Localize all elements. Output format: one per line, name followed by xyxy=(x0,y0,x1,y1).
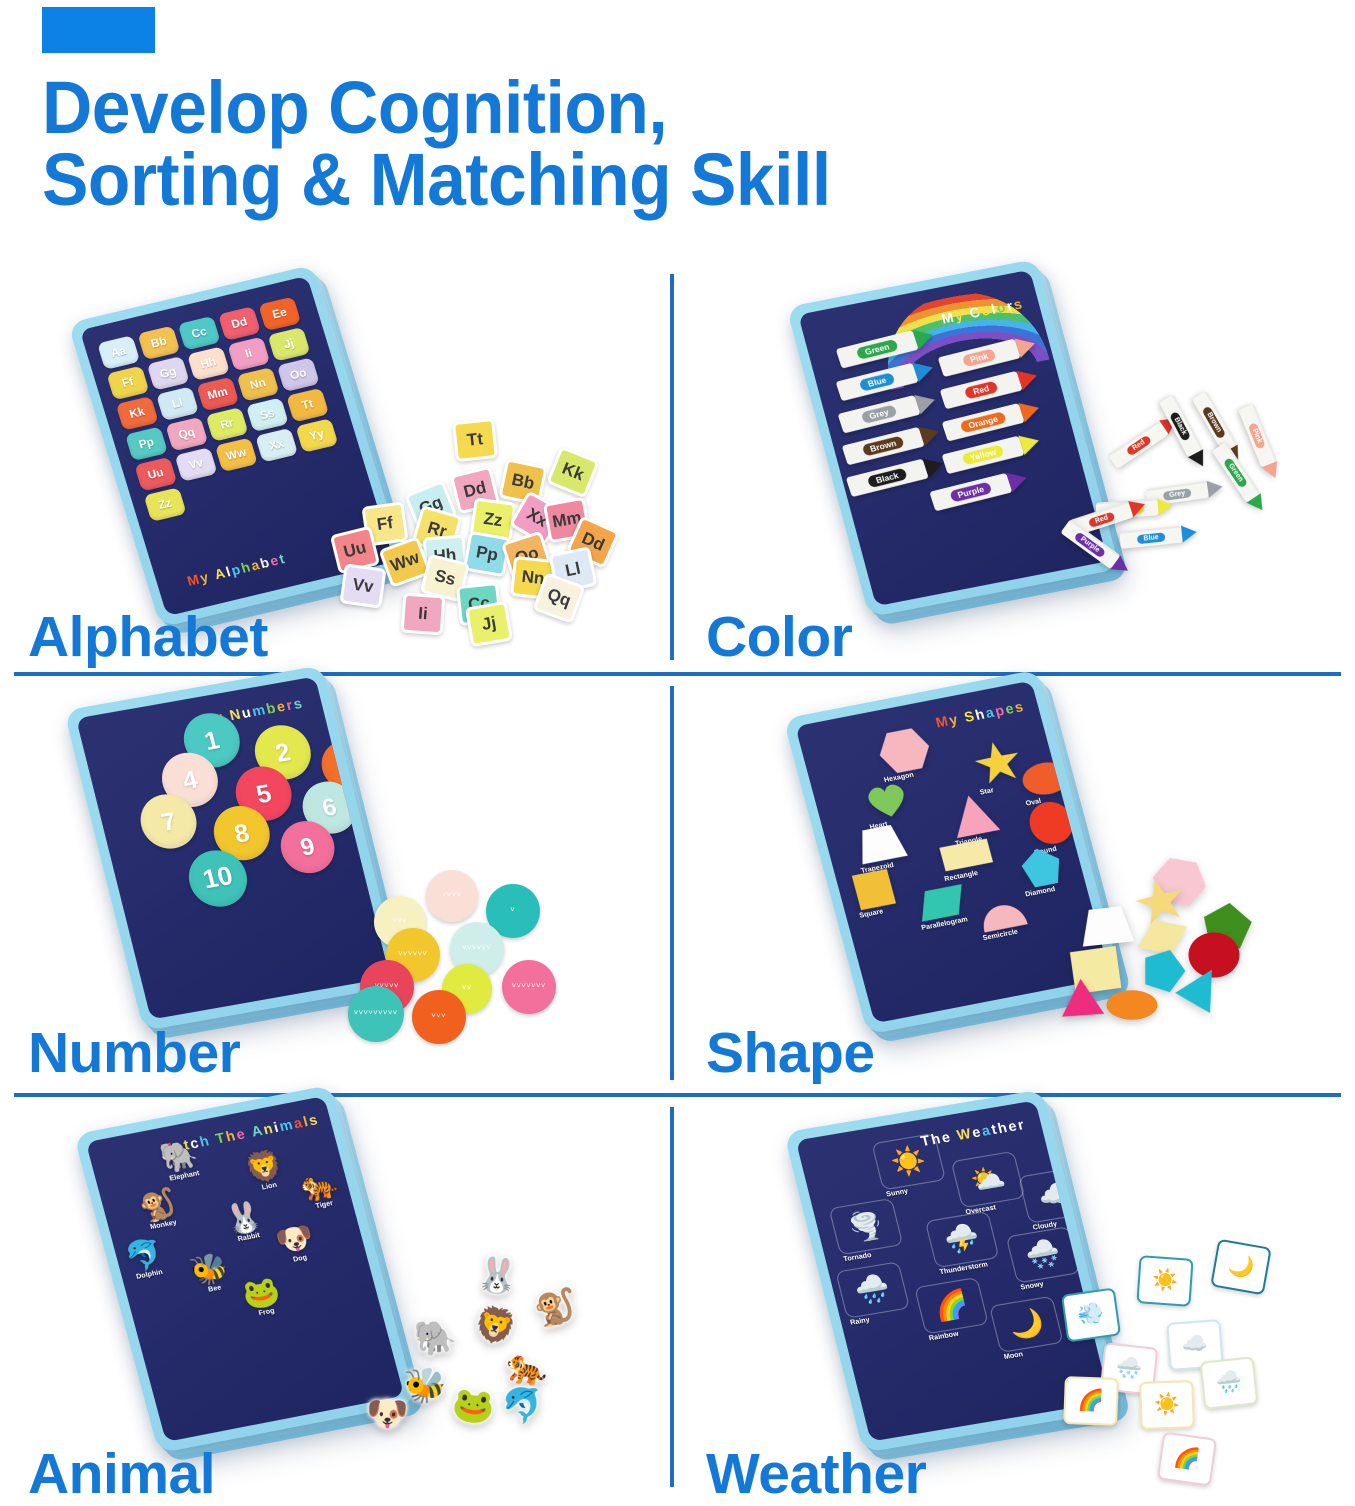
animal-rabbit: 🐰Rabbit xyxy=(222,1200,268,1244)
animal-dolphin: 🐬Dolphin xyxy=(122,1238,168,1282)
animal-frog: 🐸Frog xyxy=(239,1275,285,1319)
alphabet-tile: Oo xyxy=(277,357,320,392)
alphabet-tile: Cc xyxy=(178,316,221,351)
panel-weather: The Weather ☀️Sunny⛅Overcast☁️Cloudy🌪️To… xyxy=(684,1105,1340,1505)
alphabet-tile: Nn xyxy=(236,367,279,402)
alphabet-tile: Ff xyxy=(106,366,149,401)
weather-card-windy: 💨 xyxy=(1061,1287,1121,1342)
alphabet-loose-cards: TtBbKkDdGgZzXxMmRrFfHhPpOoDdUuWwSsNnLlVv… xyxy=(306,418,626,638)
accent-square xyxy=(42,7,155,53)
number-loose-tokens: ⱽⱽⱽⱽⱽⱽⱽⱽⱽⱽⱽⱽⱽⱽⱽⱽⱽⱽⱽⱽⱽⱽⱽⱽⱽⱽⱽⱽⱽⱽⱽⱽⱽⱽⱽⱽⱽⱽⱽⱽ… xyxy=(346,864,596,1054)
page-title: Develop Cognition, Sorting & Matching Sk… xyxy=(42,72,1076,216)
feature-grid: AaBbCcDdEeFfGgHhIiJjKkLlMmNnOoPpQqRrSsTt… xyxy=(0,262,1355,1500)
weather-cell-rainbow: 🌈 xyxy=(914,1277,989,1335)
shape-heart xyxy=(860,776,914,828)
weather-card-rainy: 🌧️ xyxy=(1200,1356,1259,1409)
animal-dog: 🐶Dog xyxy=(273,1222,319,1266)
moon-icon: 🌙 xyxy=(1006,1308,1047,1340)
alphabet-tile: Qq xyxy=(165,417,208,452)
animal-piece-rabbit: 🐰 xyxy=(475,1258,520,1295)
animal-piece-frog: 🐸 xyxy=(450,1387,496,1425)
animal-piece-dolphin: 🐬 xyxy=(499,1386,547,1427)
animal-piece-monkey: 🐒 xyxy=(532,1288,579,1328)
alphabet-loose-card: Ii xyxy=(401,593,446,636)
animal-piece-elephant: 🐘 xyxy=(412,1319,458,1357)
animal-lion: 🦁Lion xyxy=(242,1150,288,1194)
alphabet-tile: Aa xyxy=(97,335,140,370)
alphabet-tile: Hh xyxy=(187,346,230,381)
alphabet-tile: Ll xyxy=(156,386,199,421)
animal-piece-lion: 🦁 xyxy=(471,1304,520,1347)
alphabet-tile: Jj xyxy=(267,327,310,362)
felt-shape-piece xyxy=(1059,977,1106,1023)
weather-card-rainbow: 🌈 xyxy=(1157,1431,1217,1486)
tornado-icon: 🌪️ xyxy=(846,1210,887,1242)
alphabet-tile: Kk xyxy=(116,396,159,431)
weather-cell-moon: 🌙 xyxy=(989,1296,1064,1354)
alphabet-loose-card: Kk xyxy=(546,446,600,499)
weather-cell-rainy: 🌧️ xyxy=(835,1261,910,1319)
tiger-icon: 🐅 xyxy=(297,1168,341,1204)
animal-piece-dog: 🐶 xyxy=(365,1396,409,1431)
alphabet-tile: Uu xyxy=(134,457,177,492)
alphabet-tile: Bb xyxy=(137,325,180,360)
shape-loose-pieces xyxy=(1044,854,1314,1044)
rainy-icon: 🌧️ xyxy=(852,1274,893,1306)
panel-label-color: Color xyxy=(706,609,852,666)
alphabet-tile: Dd xyxy=(218,306,261,341)
alphabet-tile: Ii xyxy=(227,337,270,372)
overcast-icon: ⛅ xyxy=(968,1163,1009,1195)
panel-label-shape: Shape xyxy=(706,1025,875,1082)
elephant-icon: 🐘 xyxy=(157,1139,201,1175)
panel-animal: Match The Animals 🐘Elephant🦁Lion🐒Monkey🐅… xyxy=(6,1105,662,1505)
felt-shape-piece xyxy=(1106,990,1158,1025)
panel-label-number: Number xyxy=(28,1025,240,1082)
monkey-icon: 🐒 xyxy=(136,1188,180,1224)
bee-icon: 🐝 xyxy=(188,1252,232,1288)
divider-vertical-3 xyxy=(670,1107,674,1487)
divider-horizontal-1 xyxy=(14,672,1341,676)
weather-cell-overcast: ⛅ xyxy=(951,1151,1026,1209)
alphabet-tile: Vv xyxy=(175,447,218,482)
header: Develop Cognition, Sorting & Matching Sk… xyxy=(0,0,1355,262)
dog-icon: 🐶 xyxy=(273,1222,317,1258)
counting-token: ⱽⱽⱽⱽⱽⱽⱽ xyxy=(502,960,556,1014)
weather-card-sunny: ☀️ xyxy=(1139,1380,1195,1430)
alphabet-cover-title: My Alphabet xyxy=(185,550,288,589)
lion-icon: 🦁 xyxy=(242,1150,286,1186)
weather-cell-cloudy: ☁️ xyxy=(1018,1166,1093,1224)
shape-star xyxy=(970,737,1028,793)
panel-alphabet: AaBbCcDdEeFfGgHhIiJjKkLlMmNnOoPpQqRrSsTt… xyxy=(6,268,662,668)
weather-label: Rainy xyxy=(849,1316,870,1327)
animal-piece-tiger: 🐅 xyxy=(503,1348,551,1389)
sunny-icon: ☀️ xyxy=(888,1145,929,1177)
dolphin-icon: 🐬 xyxy=(122,1238,166,1274)
alphabet-tile: Mm xyxy=(196,377,239,412)
frog-icon: 🐸 xyxy=(239,1275,283,1311)
counting-token: ⱽⱽⱽⱽⱽⱽⱽⱽⱽ xyxy=(348,986,404,1042)
animal-loose-pieces: 🐰🐒🦁🐘🐅🐝🐸🐬🐶 xyxy=(356,1255,626,1485)
counting-token: ⱽⱽⱽ xyxy=(412,990,466,1044)
panel-color: My Colors GreenPinkBlueRedGreyOrangeBrow… xyxy=(684,268,1340,668)
divider-vertical-2 xyxy=(670,686,674,1080)
alphabet-tile: Ss xyxy=(246,397,289,432)
divider-horizontal-2 xyxy=(14,1093,1341,1097)
panel-label-alphabet: Alphabet xyxy=(28,609,268,666)
alphabet-tile: Rr xyxy=(206,407,249,442)
weather-cell-sunny: ☀️ xyxy=(871,1133,946,1191)
weather-card-sunny: ☀️ xyxy=(1136,1255,1193,1307)
weather-label: Moon xyxy=(1003,1351,1024,1362)
rabbit-icon: 🐰 xyxy=(222,1200,266,1236)
weather-loose-cards: 💨☀️🌙☁️🌨️🌧️🌈☀️🌈 xyxy=(1064,1235,1334,1495)
counting-token: ⱽⱽⱽⱽ xyxy=(426,870,478,922)
divider-vertical-1 xyxy=(670,274,674,660)
shape-cover-title: My Shapes xyxy=(934,698,1027,731)
color-loose-crayons: RedBlackBrownPinkGreyGreenYellowRedBlueP… xyxy=(1034,408,1324,608)
rainbow-icon: 🌈 xyxy=(931,1290,972,1322)
alphabet-loose-card: Jj xyxy=(465,601,513,648)
weather-cell-thunderstorm: ⛈️ xyxy=(925,1211,1000,1269)
alphabet-tile: Gg xyxy=(147,356,190,391)
thunderstorm-icon: ⛈️ xyxy=(942,1223,983,1255)
panel-label-animal: Animal xyxy=(28,1446,215,1503)
animal-tiger: 🐅Tiger xyxy=(297,1168,343,1212)
animal-piece-bee: 🐝 xyxy=(403,1368,448,1405)
crayon: Purple xyxy=(929,468,1030,511)
weather-cell-tornado: 🌪️ xyxy=(829,1198,904,1256)
weather-card-rainbow: 🌈 xyxy=(1063,1376,1119,1426)
animal-bee: 🐝Bee xyxy=(188,1252,234,1296)
weather-card-moon: 🌙 xyxy=(1210,1239,1272,1296)
panel-label-weather: Weather xyxy=(706,1446,926,1503)
alphabet-tile: Pp xyxy=(125,426,168,461)
panel-number: My Numbers 12345678910 ⱽⱽⱽⱽⱽⱽⱽⱽⱽⱽⱽⱽⱽⱽⱽⱽⱽ… xyxy=(6,684,662,1084)
alphabet-tile: Xx xyxy=(255,428,298,463)
alphabet-tile: Zz xyxy=(144,487,187,522)
snowy-icon: 🌨️ xyxy=(1023,1239,1064,1271)
alphabet-loose-card: Tt xyxy=(452,418,498,462)
alphabet-tile: Ww xyxy=(215,437,258,472)
alphabet-loose-card: Vv xyxy=(339,563,386,608)
crayon-piece: Blue xyxy=(1119,524,1197,549)
animal-monkey: 🐒Monkey xyxy=(136,1188,182,1232)
panel-shape: My Shapes HexagonStarHeartOvalTriangleTr… xyxy=(684,684,1340,1084)
alphabet-tile: Ee xyxy=(258,296,301,331)
